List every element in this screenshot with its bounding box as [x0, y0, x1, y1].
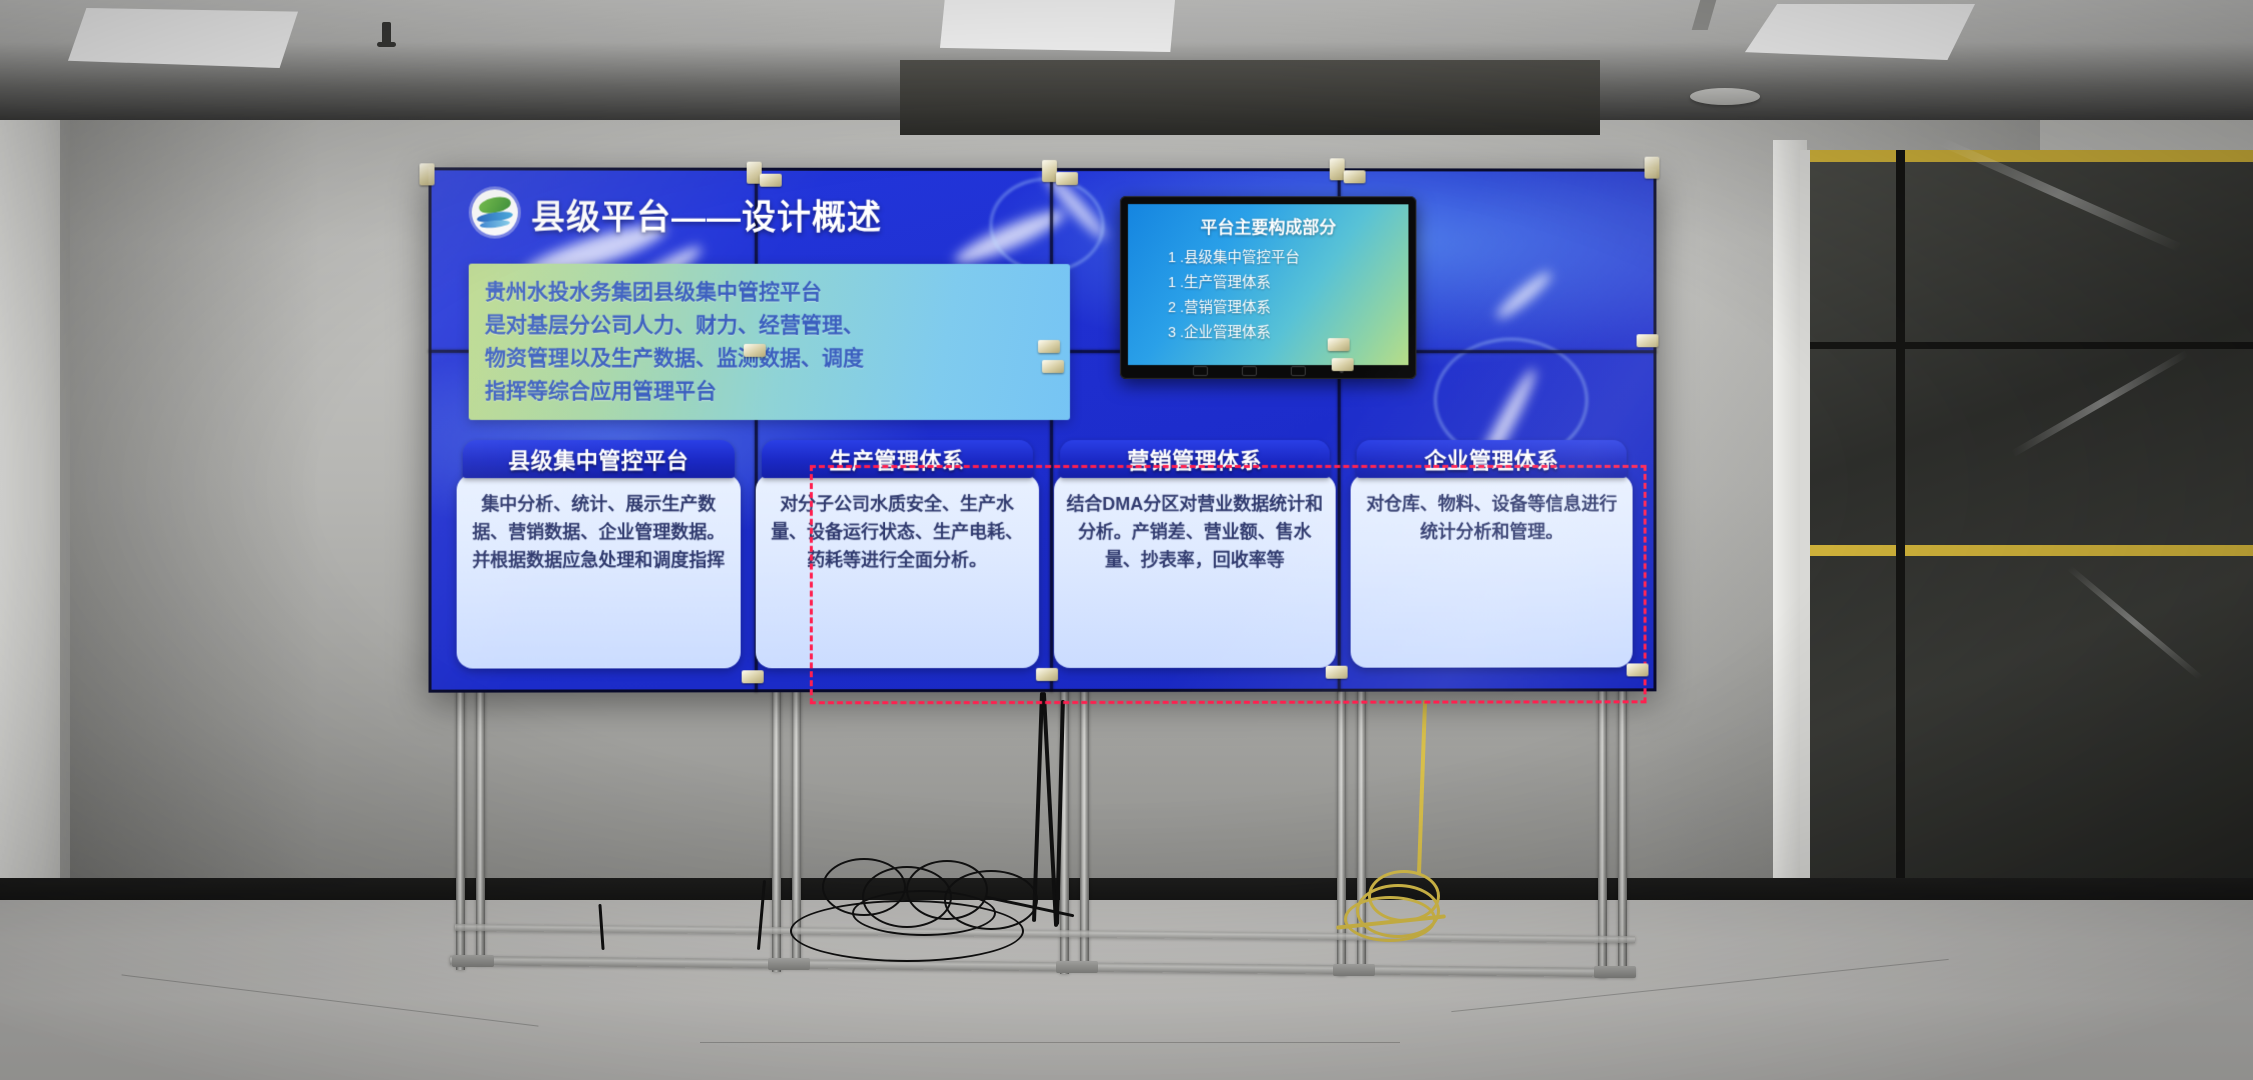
intro-line: 贵州水投水务集团县级集中管控平台	[485, 276, 1060, 309]
card-body-text: 结合DMA分区对营业数据统计和分析。产销差、营业额、售水量、抄表率，回收率等	[1065, 490, 1323, 574]
presentation-slide: 县级平台——设计概述 贵州水投水务集团县级集中管控平台 是对基层分公司人力、财力…	[429, 167, 1657, 692]
card-production-system[interactable]: 生产管理体系 对分子公司水质安全、生产水量、设备运行状态、生产电耗、药耗等进行全…	[755, 440, 1038, 672]
intro-line: 物资管理以及生产数据、监测数据、调度	[485, 342, 1060, 375]
tv-soft-keys[interactable]	[1120, 365, 1416, 377]
card-heading-label: 营销管理体系	[1127, 443, 1262, 475]
card-heading: 企业管理体系	[1357, 440, 1627, 478]
card-body: 结合DMA分区对营业数据统计和分析。产销差、营业额、售水量、抄表率，回收率等	[1053, 474, 1335, 668]
tv-screen: 平台主要构成部分 1 .县级集中管控平台 1 .生产管理体系 2 .营销管理体系…	[1128, 204, 1408, 365]
card-enterprise-system[interactable]: 企业管理体系 对仓库、物料、设备等信息进行统计分析和管理。	[1351, 440, 1633, 672]
slide-title: 县级平台——设计概述	[531, 190, 882, 239]
card-body: 集中分析、统计、展示生产数据、营销数据、企业管理数据。并根据数据应急处理和调度指…	[457, 474, 741, 669]
tv-list-item: 3 .企业管理体系	[1168, 321, 1300, 346]
intro-line: 指挥等综合应用管理平台	[485, 375, 1060, 408]
card-county-platform[interactable]: 县级集中管控平台 集中分析、统计、展示生产数据、营销数据、企业管理数据。并根据数…	[457, 440, 741, 673]
tv-list-item: 1 .生产管理体系	[1168, 271, 1300, 296]
mount-clip-icon	[1326, 666, 1348, 679]
tv-list-item: 2 .营销管理体系	[1168, 296, 1300, 321]
mount-clip-icon	[1332, 358, 1354, 371]
mount-clip-icon	[1042, 360, 1064, 373]
stand-base-rail	[455, 924, 1635, 943]
mount-clip-icon	[1038, 340, 1060, 353]
intro-text-box: 贵州水投水务集团县级集中管控平台 是对基层分公司人力、财力、经营管理、 物资管理…	[469, 264, 1070, 420]
card-heading-label: 县级集中管控平台	[508, 443, 689, 475]
mount-clip-icon	[1637, 334, 1659, 347]
stand-base-rail	[450, 956, 1635, 977]
tv-inset-title: 平台主要构成部分	[1128, 213, 1408, 238]
card-body-text: 集中分析、统计、展示生产数据、营销数据、企业管理数据。并根据数据应急处理和调度指…	[469, 490, 729, 574]
stand-foot	[1333, 964, 1375, 976]
card-body: 对仓库、物料、设备等信息进行统计分析和管理。	[1351, 474, 1633, 668]
mount-clip-icon	[1627, 663, 1649, 676]
mount-clip-icon	[1330, 158, 1345, 180]
mount-clip-icon	[1036, 668, 1058, 681]
tv-inset-list: 1 .县级集中管控平台 1 .生产管理体系 2 .营销管理体系 3 .企业管理体…	[1168, 246, 1300, 346]
intro-line: 是对基层分公司人力、财力、经营管理、	[485, 309, 1060, 342]
card-body-text: 对分子公司水质安全、生产水量、设备运行状态、生产电耗、药耗等进行全面分析。	[767, 490, 1026, 574]
tv-list-item: 1 .县级集中管控平台	[1168, 246, 1300, 271]
mount-clip-icon	[1645, 157, 1660, 179]
stand-post	[1598, 690, 1607, 978]
mount-clip-icon	[1344, 170, 1366, 183]
card-heading: 生产管理体系	[761, 440, 1032, 478]
intro-text: 贵州水投水务集团县级集中管控平台 是对基层分公司人力、财力、经营管理、 物资管理…	[485, 276, 1060, 408]
stand-foot	[1056, 961, 1098, 973]
card-heading: 县级集中管控平台	[463, 440, 735, 478]
mount-clip-icon	[1056, 172, 1078, 185]
mount-clip-icon	[1328, 338, 1350, 351]
mount-clip-icon	[1042, 160, 1057, 182]
stand-post	[1618, 690, 1627, 973]
tv-key-back-icon[interactable]	[1193, 366, 1208, 376]
stand-foot	[768, 958, 810, 970]
card-body-text: 对仓库、物料、设备等信息进行统计分析和管理。	[1363, 490, 1621, 546]
water-group-logo-icon	[472, 189, 518, 235]
card-heading-label: 企业管理体系	[1425, 443, 1560, 475]
card-row: 县级集中管控平台 集中分析、统计、展示生产数据、营销数据、企业管理数据。并根据数…	[457, 440, 1633, 673]
stand-foot	[1594, 966, 1636, 978]
mount-clip-icon	[742, 670, 764, 683]
room-scene: 县级平台——设计概述 贵州水投水务集团县级集中管控平台 是对基层分公司人力、财力…	[0, 0, 2253, 1080]
stand-foot	[452, 955, 494, 967]
video-wall[interactable]: 县级平台——设计概述 贵州水投水务集团县级集中管控平台 是对基层分公司人力、财力…	[429, 167, 1657, 692]
tv-key-home-icon[interactable]	[1242, 366, 1257, 376]
card-body: 对分子公司水质安全、生产水量、设备运行状态、生产电耗、药耗等进行全面分析。	[755, 474, 1038, 668]
tv-inset-monitor[interactable]: 平台主要构成部分 1 .县级集中管控平台 1 .生产管理体系 2 .营销管理体系…	[1120, 196, 1416, 379]
mount-clip-icon	[744, 344, 766, 357]
stand-post	[1080, 690, 1089, 969]
card-marketing-system[interactable]: 营销管理体系 结合DMA分区对营业数据统计和分析。产销差、营业额、售水量、抄表率…	[1053, 440, 1335, 672]
card-heading: 营销管理体系	[1059, 440, 1329, 478]
card-heading-label: 生产管理体系	[829, 443, 964, 475]
tv-key-menu-icon[interactable]	[1291, 366, 1306, 376]
mount-clip-icon	[760, 174, 782, 187]
mount-clip-icon	[419, 163, 434, 185]
